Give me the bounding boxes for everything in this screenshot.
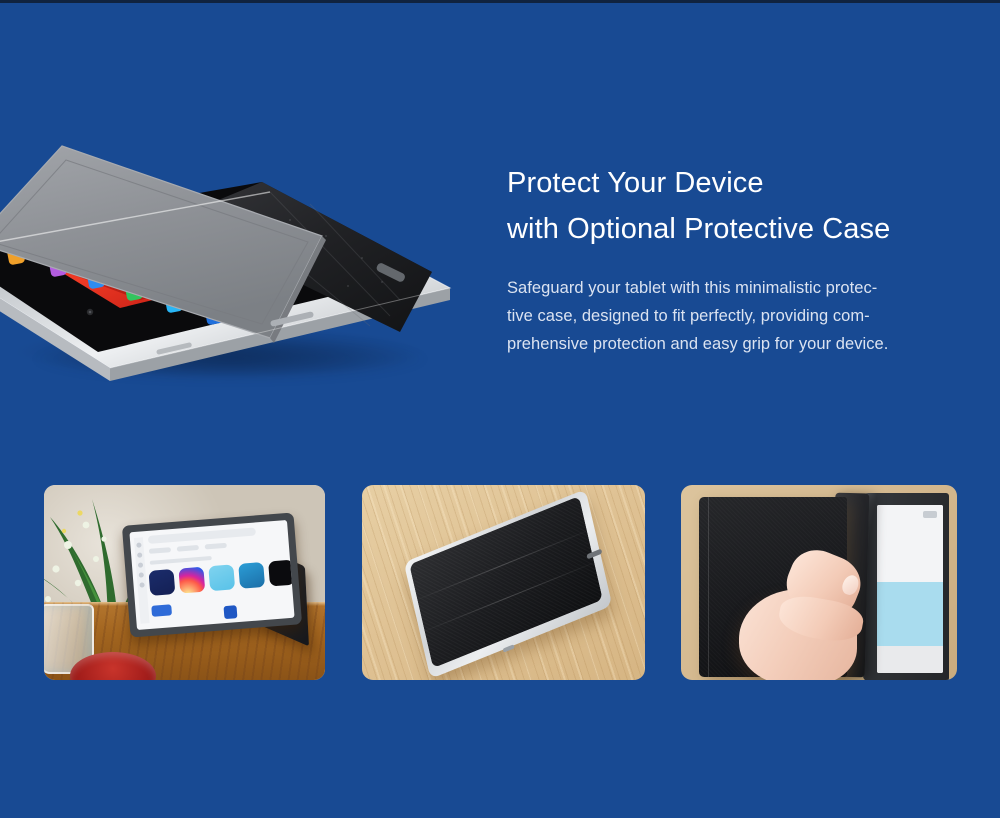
description-line-1: Safeguard your tablet with this minimali…: [507, 274, 977, 302]
screen-panel-middle: [877, 582, 943, 646]
promo-banner: Protect Your Device with Optional Protec…: [0, 0, 1000, 818]
screen-panel-bottom: [877, 646, 943, 673]
tablet-screen: [129, 520, 294, 630]
tablet-device: [122, 512, 302, 637]
tablet-screen: [877, 505, 943, 673]
hero-product-image: [0, 100, 490, 400]
play-store-badge: [151, 604, 172, 617]
play-store-list-icon: [223, 605, 237, 619]
description-line-2: tive case, designed to fit perfectly, pr…: [507, 302, 977, 330]
tablet-device: [863, 493, 949, 680]
screen-widget-icon: [923, 511, 937, 518]
hand-graphic: [739, 555, 871, 680]
disney-plus-app-icon: [148, 569, 175, 596]
scene-stand-mode: [44, 485, 325, 680]
play-store-app-row: [148, 560, 294, 596]
scene-case-closed: [362, 485, 645, 680]
description-line-3: prehensive protection and easy grip for …: [507, 330, 977, 358]
prime-video-app-icon: [238, 562, 265, 589]
gallery-item-hand-opening-case[interactable]: [681, 485, 957, 680]
scene-hand-opening: [681, 485, 957, 680]
gallery-item-case-closed[interactable]: [362, 485, 645, 680]
headline-line-1: Protect Your Device: [507, 167, 764, 199]
hero-description: Safeguard your tablet with this minimali…: [507, 274, 977, 358]
play-store-section-title: [150, 556, 212, 565]
headline-line-2: with Optional Protective Case: [507, 213, 890, 245]
tablet-with-case-illustration: [0, 100, 490, 400]
instagram-app-icon: [178, 567, 205, 594]
gallery-item-tablet-stand-mode[interactable]: [44, 485, 325, 680]
product-gallery: [0, 485, 1000, 680]
top-divider-rule: [0, 0, 1000, 3]
clevo-app-icon: [208, 564, 235, 591]
hero-copy-block: Protect Your Device with Optional Protec…: [507, 160, 977, 358]
page-title: Protect Your Device with Optional Protec…: [507, 160, 977, 252]
play-store-tabs: [149, 543, 227, 554]
screen-sidebar: [134, 537, 150, 623]
play-store-search-bar: [148, 527, 256, 543]
hero-section: Protect Your Device with Optional Protec…: [0, 100, 1000, 410]
